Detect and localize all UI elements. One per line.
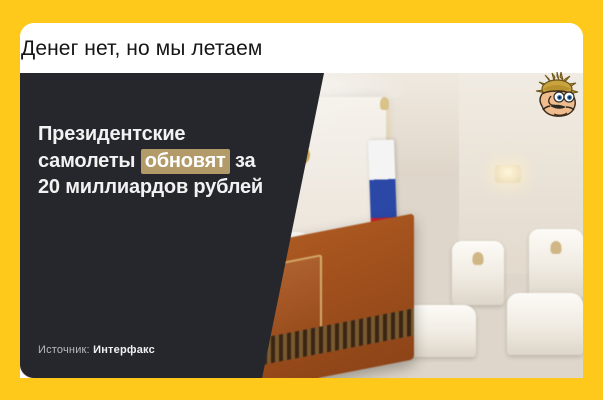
source-name: Интерфакс [93,344,155,356]
chair-right-1 [452,241,504,305]
source-line: Источник: Интерфакс [38,344,155,356]
media-block[interactable]: Президентские самолеты обновят за 20 мил… [20,73,583,378]
chair-right-2 [529,229,583,299]
yellow-canvas: Денег нет, но мы летаем [0,0,603,400]
chair-crest [473,252,484,265]
chair-front-1 [404,305,476,357]
caption-strip: Денег нет, но мы летаем [20,23,583,73]
post-card: Денег нет, но мы летаем [20,23,583,378]
headline: Президентские самолеты обновят за 20 мил… [38,121,268,201]
chair-crest [551,241,562,254]
cartoon-face-sticker [528,72,584,128]
headline-highlight: обновят [141,149,230,174]
post-caption: Денег нет, но мы летаем [20,38,262,59]
chair-front-2 [507,293,583,355]
source-label: Источник: [38,344,90,356]
wall-lamp [495,165,521,183]
